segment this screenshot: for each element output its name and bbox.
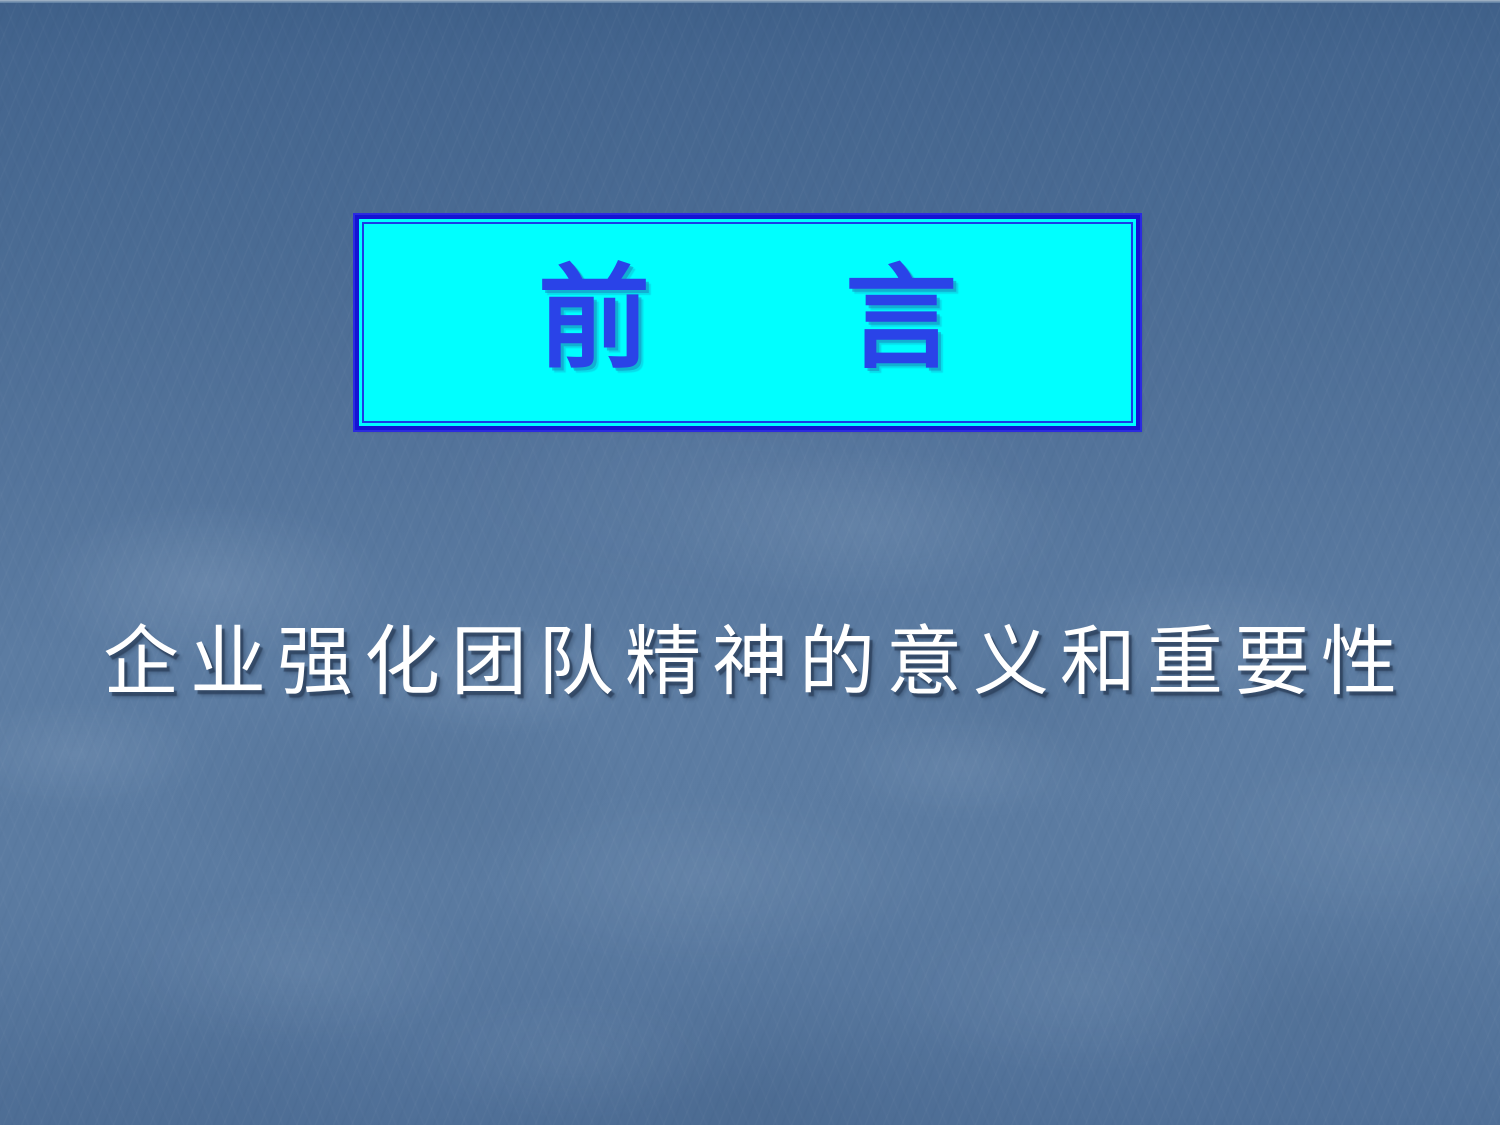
- slide-background-shading: [0, 0, 1500, 1125]
- presentation-slide: 前 言 企业强化团队精神的意义和重要性: [0, 0, 1500, 1125]
- title-plaque: 前 言: [355, 215, 1140, 430]
- slide-title: 前 言: [538, 263, 957, 375]
- slide-top-edge-highlight: [0, 0, 1500, 3]
- slide-subtitle: 企业强化团队精神的意义和重要性: [0, 618, 1500, 705]
